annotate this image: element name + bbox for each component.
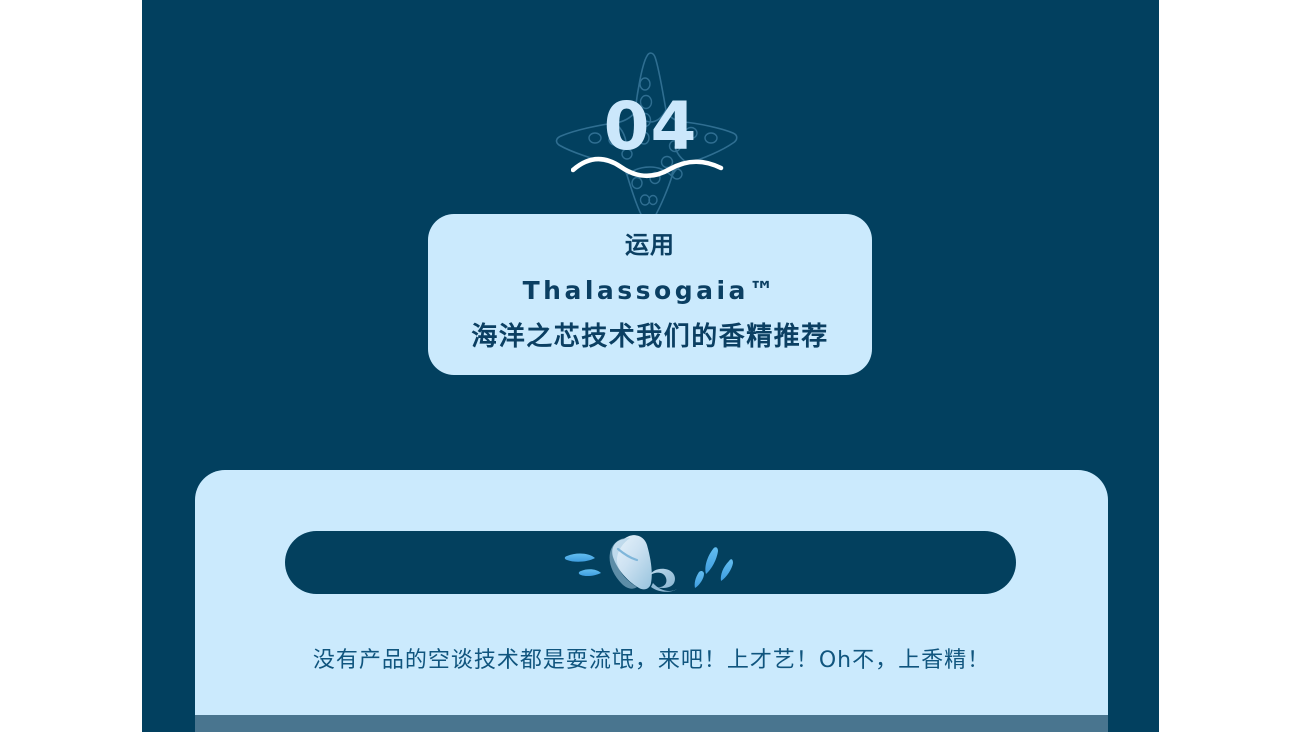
title-card: 运用 Thalassogaia™ 海洋之芯技术我们的香精推荐	[428, 214, 872, 375]
title-line-1: 运用	[446, 230, 854, 261]
content-card: 没有产品的空谈技术都是耍流氓，来吧！上才艺！Oh不，上香精！	[195, 470, 1108, 715]
jumping-fish-icon	[561, 531, 741, 594]
caption-text: 没有产品的空谈技术都是耍流氓，来吧！上才艺！Oh不，上香精！	[195, 642, 1108, 674]
title-line-3: 海洋之芯技术我们的香精推荐	[446, 320, 854, 354]
title-line-2-brand: Thalassogaia™	[446, 275, 854, 308]
section-badge: 04	[142, 0, 1159, 215]
bottom-band	[195, 715, 1108, 732]
dark-content-panel: 04 运用 Thalassogaia™ 海洋之芯技术我们的香精推荐	[142, 0, 1159, 732]
wave-line-icon	[571, 152, 731, 186]
page-root: 04 运用 Thalassogaia™ 海洋之芯技术我们的香精推荐	[0, 0, 1301, 732]
section-number: 04	[604, 94, 698, 160]
banner-pill	[285, 531, 1016, 594]
